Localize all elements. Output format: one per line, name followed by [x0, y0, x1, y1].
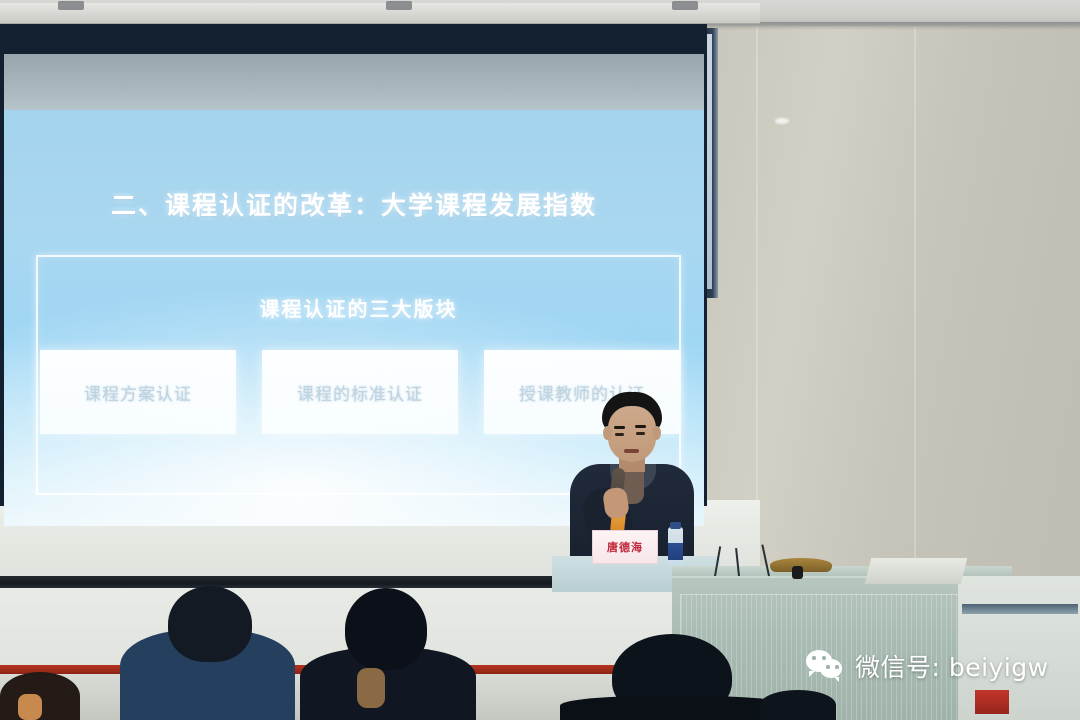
- slide-card: 课程方案认证: [40, 350, 236, 434]
- audience-member-head: [345, 588, 427, 670]
- water-bottle-label: [668, 543, 683, 560]
- wechat-icon: [806, 650, 846, 682]
- slide-title: 二、课程认证的改革：大学课程发展指数: [4, 186, 704, 222]
- screen-letterbox: [4, 54, 704, 110]
- speaker-ear-right: [652, 426, 661, 440]
- speaker-eye-left: [615, 433, 624, 436]
- wall-light-spot: [775, 118, 789, 124]
- audience-member-head: [168, 586, 252, 662]
- podium-red-object: [975, 690, 1009, 714]
- audience-member-shoulders: [560, 696, 790, 720]
- audience-member-hair-clip: [18, 694, 42, 720]
- water-bottle-cap: [670, 522, 681, 529]
- speaker-hand: [602, 486, 630, 519]
- wechat-watermark: 微信号: beiyigw: [806, 648, 1049, 684]
- desk-microphone-knob: [792, 566, 803, 579]
- projector-screen-roller-case: [0, 3, 760, 24]
- slide-card: 课程的标准认证: [262, 350, 458, 434]
- audience-member-head: [760, 690, 836, 720]
- speaker-mouth: [624, 449, 639, 453]
- right-wall: [706, 24, 1080, 624]
- roller-bracket: [672, 1, 698, 10]
- slide-subtitle: 课程认证的三大版块: [36, 293, 681, 322]
- roller-bracket: [386, 1, 412, 10]
- roller-bracket: [58, 1, 84, 10]
- speaker-eyebrow-left: [614, 426, 625, 429]
- speaker-eye-right: [636, 432, 645, 435]
- slide-card-label: 课程的标准认证: [297, 380, 423, 405]
- podium-cabinet-slot: [962, 604, 1078, 614]
- slide-card-label: 课程方案认证: [84, 380, 192, 405]
- photo-scene: 二、课程认证的改革：大学课程发展指数 课程认证的三大版块 课程方案认证 课程的标…: [0, 0, 1080, 720]
- wechat-watermark-label: 微信号: beiyigw: [855, 648, 1049, 684]
- laptop-lid: [865, 558, 967, 584]
- speaker-ear-left: [603, 426, 612, 440]
- audience-member-hair-tail: [357, 668, 385, 708]
- speaker-nameplate-text: 唐德海: [607, 539, 643, 555]
- speaker-nameplate: 唐德海: [592, 530, 658, 564]
- speaker-eyebrow-right: [635, 425, 646, 428]
